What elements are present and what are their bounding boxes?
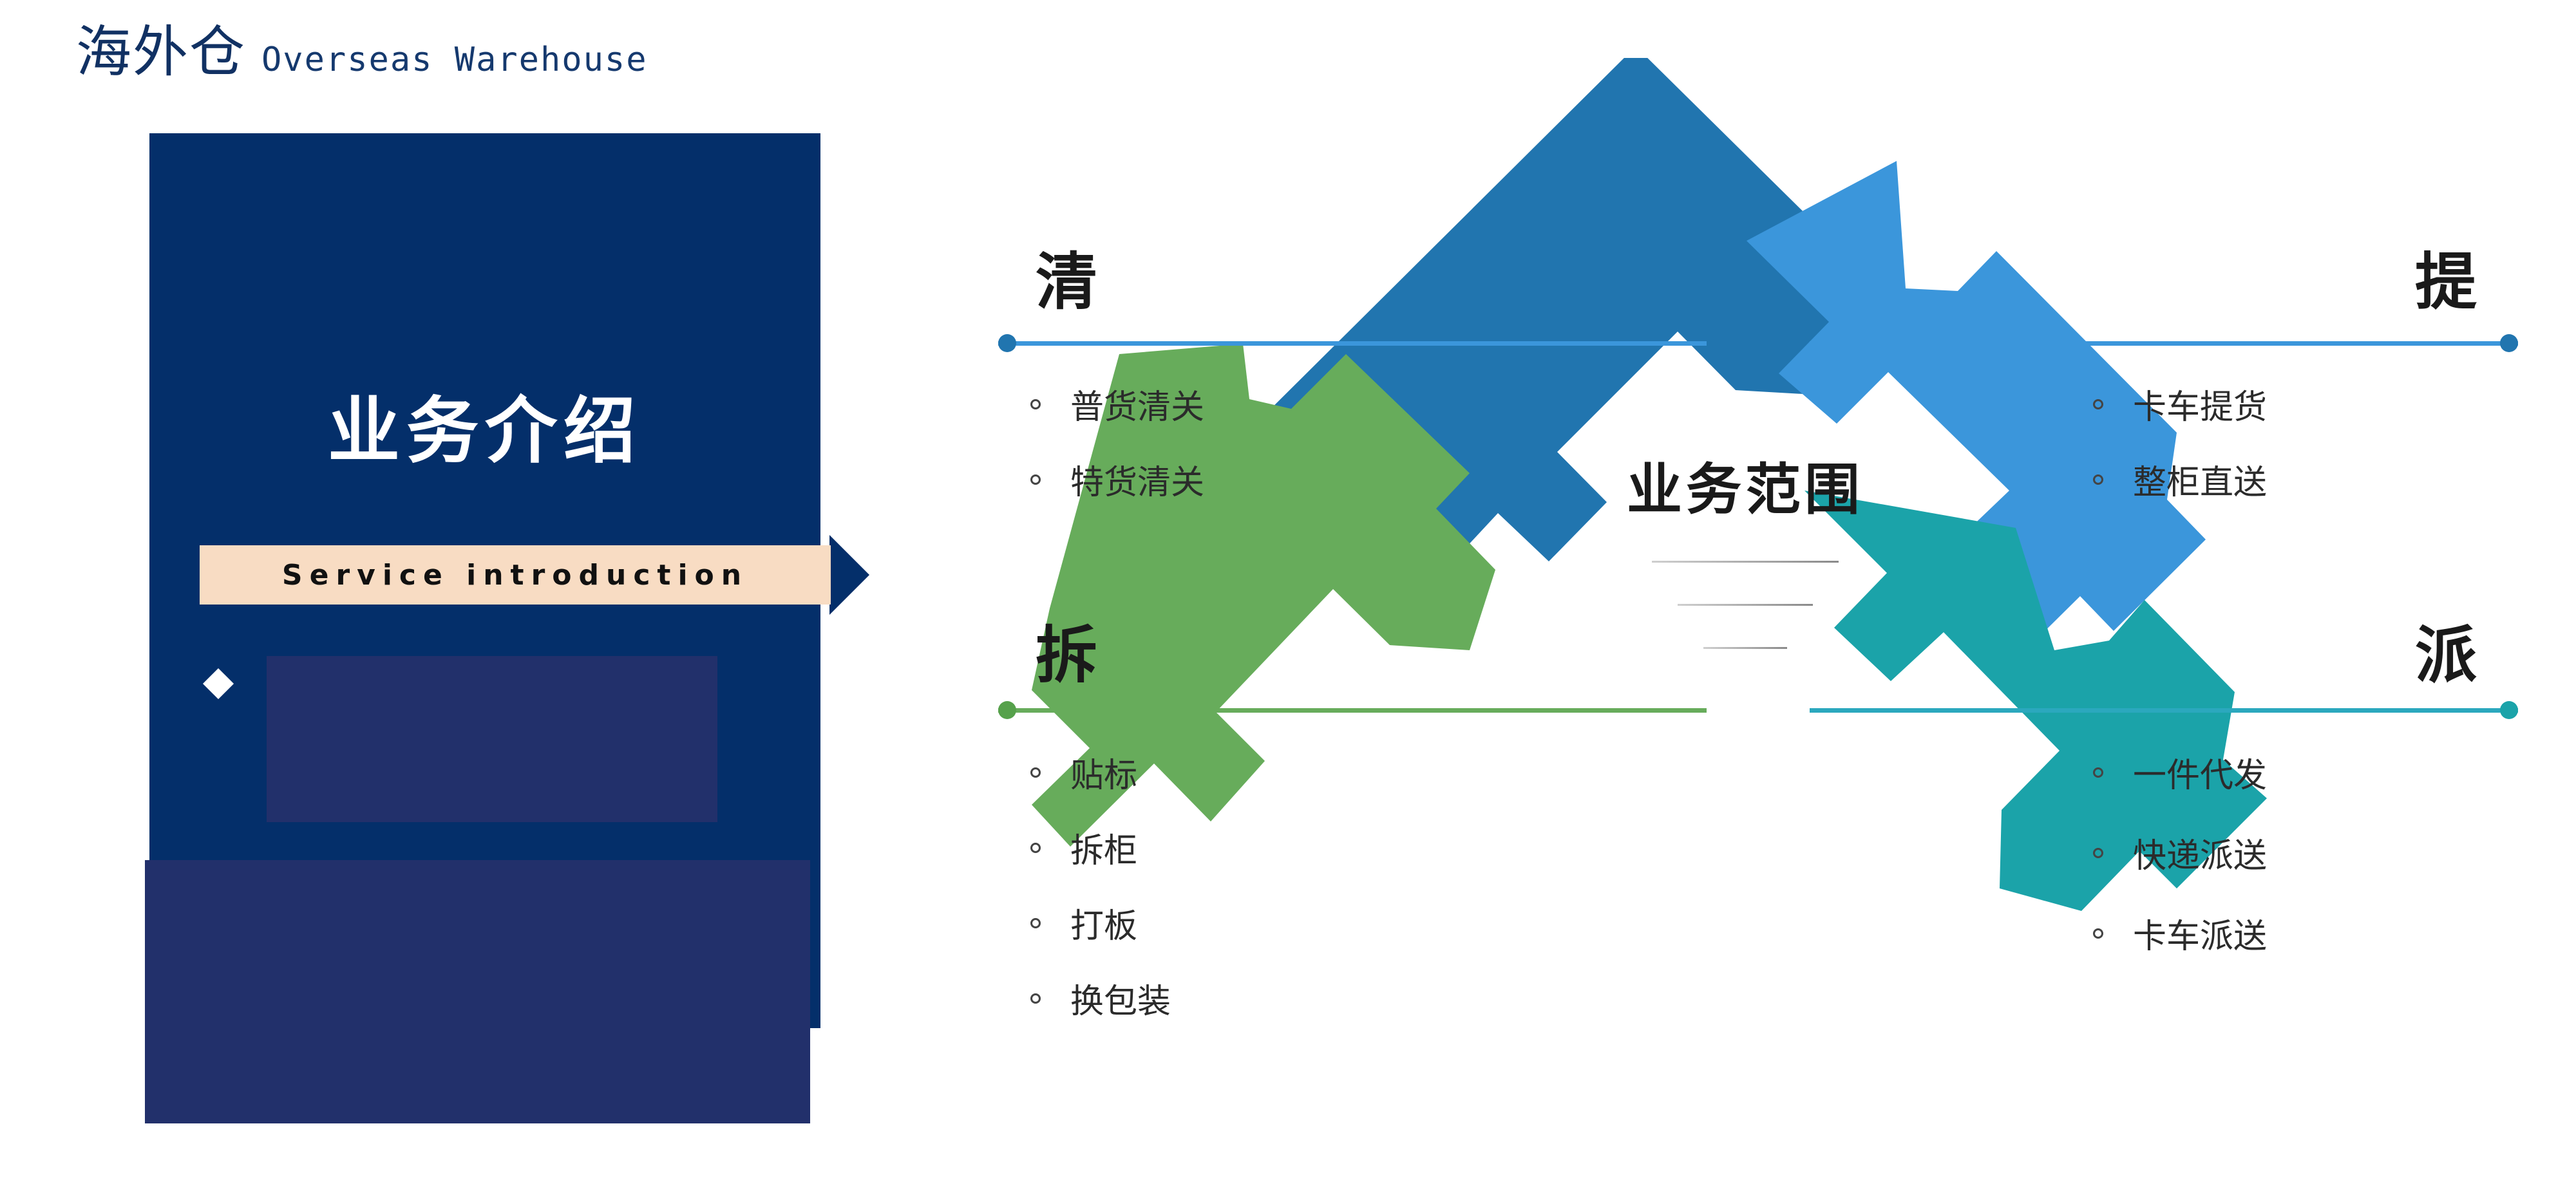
connector-line-chai bbox=[998, 708, 1707, 713]
bullet-icon bbox=[1030, 993, 1041, 1004]
bullet-icon bbox=[2093, 928, 2103, 939]
list-item: 贴标 bbox=[1030, 748, 1171, 796]
list-item-label: 贴标 bbox=[1070, 748, 1137, 796]
list-item: 特货清关 bbox=[1030, 455, 1204, 503]
list-item-label: 快递派送 bbox=[2133, 829, 2267, 877]
connector-line-ti bbox=[1810, 341, 2518, 346]
connector-qing bbox=[998, 341, 1707, 346]
bullet-icon bbox=[2093, 767, 2103, 778]
slide-canvas: 海外仓 Overseas Warehouse 业务介绍 Service intr… bbox=[0, 0, 2576, 1182]
section-char-chai: 拆 bbox=[1036, 624, 1097, 686]
left-info-panel: 业务介绍 Service introduction bbox=[149, 133, 820, 1028]
bullet-icon bbox=[2093, 399, 2103, 409]
list-item-label: 特货清关 bbox=[1070, 455, 1204, 503]
page-title-en: Overseas Warehouse bbox=[261, 43, 648, 77]
bullet-list-chai: 贴标 拆柜 打板 换包装 bbox=[1030, 748, 1171, 1022]
center-rule-2 bbox=[1678, 604, 1813, 606]
bullet-list-ti: 卡车提货 整柜直送 bbox=[2093, 380, 2267, 503]
ribbon-label: Service introduction bbox=[200, 545, 831, 605]
center-rule-1 bbox=[1652, 561, 1839, 563]
bullet-icon bbox=[1030, 843, 1041, 853]
list-item-label: 换包装 bbox=[1070, 974, 1171, 1022]
diamond-bullet-icon bbox=[203, 668, 234, 699]
bullet-list-qing: 普货清关 特货清关 bbox=[1030, 380, 1204, 503]
connector-line-qing bbox=[998, 341, 1707, 346]
section-char-qing: 清 bbox=[1036, 251, 1097, 313]
service-introduction-ribbon: Service introduction bbox=[200, 545, 882, 605]
bullet-icon bbox=[1030, 767, 1041, 778]
list-item: 拆柜 bbox=[1030, 823, 1171, 872]
panel-heading: 业务介绍 bbox=[149, 373, 820, 477]
bullet-icon bbox=[1030, 474, 1041, 485]
bullet-list-pai: 一件代发 快递派送 卡车派送 bbox=[2093, 748, 2267, 957]
connector-ti bbox=[1810, 341, 2518, 346]
bullet-icon bbox=[1030, 918, 1041, 928]
ribbon-arrow-icon bbox=[829, 535, 869, 615]
list-item-label: 卡车派送 bbox=[2133, 909, 2267, 957]
list-item: 快递派送 bbox=[2093, 829, 2267, 877]
page-title-cn: 海外仓 bbox=[76, 24, 246, 80]
list-item: 普货清关 bbox=[1030, 380, 1204, 428]
center-rule-3 bbox=[1703, 647, 1787, 649]
list-item: 换包装 bbox=[1030, 974, 1171, 1022]
diagram-center-label: 业务范围 bbox=[1546, 444, 1945, 649]
center-title: 业务范围 bbox=[1546, 444, 1945, 525]
connector-dot-qing bbox=[998, 334, 1016, 352]
section-char-pai: 派 bbox=[2415, 624, 2477, 686]
connector-dot-ti bbox=[2500, 334, 2518, 352]
section-char-ti: 提 bbox=[2415, 251, 2477, 313]
list-item-label: 一件代发 bbox=[2133, 748, 2267, 796]
list-item-label: 普货清关 bbox=[1070, 380, 1204, 428]
list-item-label: 打板 bbox=[1070, 899, 1137, 947]
placeholder-box-2 bbox=[145, 860, 810, 1123]
list-item-label: 卡车提货 bbox=[2133, 380, 2267, 428]
connector-chai bbox=[998, 708, 1707, 713]
page-title: 海外仓 Overseas Warehouse bbox=[76, 24, 648, 80]
business-scope-diagram: 业务范围 清 普货清关 特货清关 提 bbox=[992, 58, 2524, 1011]
connector-dot-pai bbox=[2500, 701, 2518, 719]
list-item-label: 整柜直送 bbox=[2133, 455, 2267, 503]
list-item: 整柜直送 bbox=[2093, 455, 2267, 503]
list-item: 卡车派送 bbox=[2093, 909, 2267, 957]
list-item-label: 拆柜 bbox=[1070, 823, 1137, 872]
connector-line-pai bbox=[1810, 708, 2518, 713]
bullet-icon bbox=[2093, 848, 2103, 858]
connector-dot-chai bbox=[998, 701, 1016, 719]
bullet-icon bbox=[1030, 399, 1041, 409]
list-item: 卡车提货 bbox=[2093, 380, 2267, 428]
placeholder-box-1 bbox=[267, 656, 717, 822]
list-item: 打板 bbox=[1030, 899, 1171, 947]
connector-pai bbox=[1810, 708, 2518, 713]
list-item: 一件代发 bbox=[2093, 748, 2267, 796]
bullet-icon bbox=[2093, 474, 2103, 485]
